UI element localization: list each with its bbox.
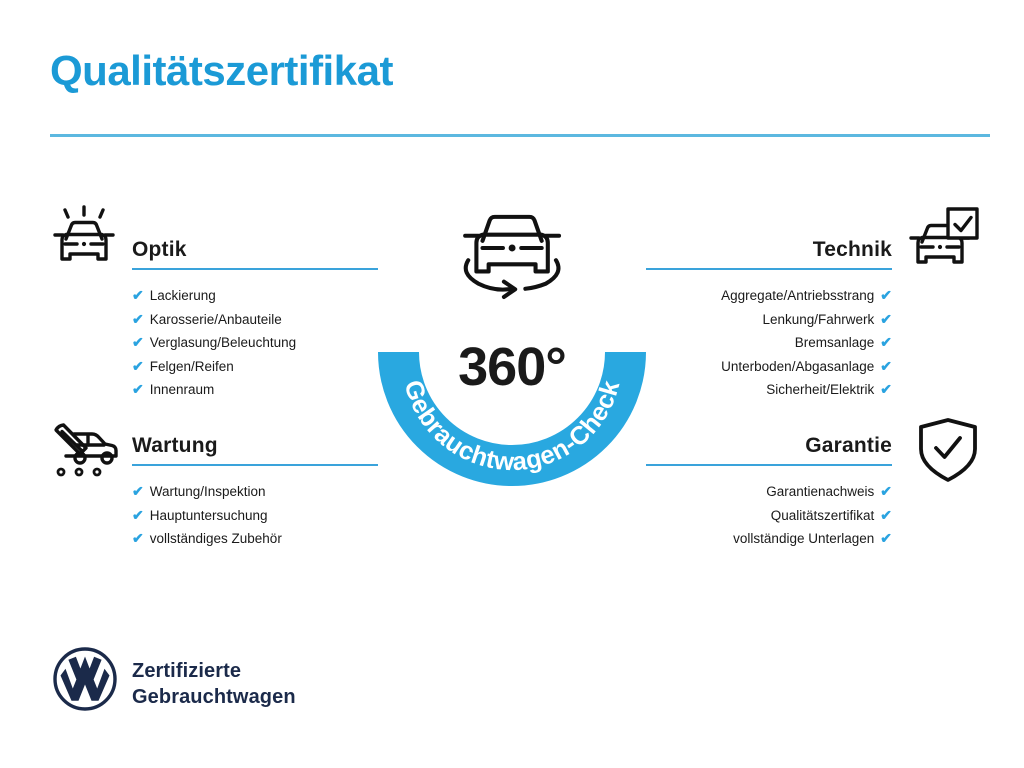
list-item-label: Garantienachweis bbox=[766, 484, 874, 499]
list-item: Unterboden/Abgasanlage✔ bbox=[646, 355, 892, 379]
list-item: ✔vollständiges Zubehör bbox=[132, 527, 378, 551]
header-divider bbox=[50, 134, 990, 137]
section-divider-wartung bbox=[132, 464, 378, 466]
section-technik: Technik Aggregate/Antriebsstrang✔ Lenkun… bbox=[646, 238, 892, 402]
check-icon: ✔ bbox=[132, 507, 144, 523]
vw-logo bbox=[52, 646, 118, 712]
car-rotate-360-icon bbox=[465, 217, 559, 297]
list-item: ✔Felgen/Reifen bbox=[132, 355, 378, 379]
list-item-label: Unterboden/Abgasanlage bbox=[721, 359, 874, 374]
badge-degrees-label: 360° bbox=[368, 336, 656, 398]
checklist-technik: Aggregate/Antriebsstrang✔ Lenkung/Fahrwe… bbox=[646, 284, 892, 402]
list-item: Bremsanlage✔ bbox=[646, 331, 892, 355]
list-item-label: Karosserie/Anbauteile bbox=[150, 312, 282, 327]
check-icon: ✔ bbox=[880, 287, 892, 303]
check-icon: ✔ bbox=[880, 530, 892, 546]
check-icon: ✔ bbox=[132, 311, 144, 327]
check-icon: ✔ bbox=[880, 358, 892, 374]
section-optik: Optik ✔Lackierung ✔Karosserie/Anbauteile… bbox=[132, 238, 378, 402]
car-front-shine-icon bbox=[46, 204, 122, 280]
check-icon: ✔ bbox=[132, 334, 144, 350]
checklist-garantie: Garantienachweis✔ Qualitätszertifikat✔ v… bbox=[646, 480, 892, 551]
section-heading-technik: Technik bbox=[646, 238, 892, 261]
car-front-checkbox-icon bbox=[906, 204, 982, 280]
list-item: ✔Karosserie/Anbauteile bbox=[132, 308, 378, 332]
section-garantie: Garantie Garantienachweis✔ Qualitätszert… bbox=[646, 434, 892, 551]
list-item: Garantienachweis✔ bbox=[646, 480, 892, 504]
check-icon: ✔ bbox=[880, 311, 892, 327]
list-item-label: Sicherheit/Elektrik bbox=[766, 382, 874, 397]
check-icon: ✔ bbox=[132, 483, 144, 499]
list-item: ✔Innenraum bbox=[132, 378, 378, 402]
list-item-label: Lackierung bbox=[150, 288, 216, 303]
section-heading-optik: Optik bbox=[132, 238, 378, 261]
section-divider-optik bbox=[132, 268, 378, 270]
list-item: ✔Verglasung/Beleuchtung bbox=[132, 331, 378, 355]
list-item: ✔Wartung/Inspektion bbox=[132, 480, 378, 504]
check-icon: ✔ bbox=[132, 530, 144, 546]
list-item: Sicherheit/Elektrik✔ bbox=[646, 378, 892, 402]
page-title: Qualitätszertifikat bbox=[50, 48, 393, 94]
list-item-label: Wartung/Inspektion bbox=[150, 484, 266, 499]
section-divider-garantie bbox=[646, 464, 892, 466]
list-item-label: Qualitätszertifikat bbox=[771, 508, 875, 523]
list-item: Lenkung/Fahrwerk✔ bbox=[646, 308, 892, 332]
list-item: Qualitätszertifikat✔ bbox=[646, 504, 892, 528]
check-icon: ✔ bbox=[132, 358, 144, 374]
list-item: ✔Lackierung bbox=[132, 284, 378, 308]
list-item-label: vollständige Unterlagen bbox=[733, 531, 874, 546]
checklist-wartung: ✔Wartung/Inspektion ✔Hauptuntersuchung ✔… bbox=[132, 480, 378, 551]
list-item-label: Verglasung/Beleuchtung bbox=[150, 335, 296, 350]
footer-brand-text: Zertifizierte Gebrauchtwagen bbox=[132, 658, 296, 710]
car-service-tool-icon bbox=[46, 412, 122, 488]
list-item: vollständige Unterlagen✔ bbox=[646, 527, 892, 551]
section-heading-wartung: Wartung bbox=[132, 434, 378, 457]
footer-line-2: Gebrauchtwagen bbox=[132, 684, 296, 710]
shield-check-icon bbox=[910, 412, 986, 488]
list-item: Aggregate/Antriebsstrang✔ bbox=[646, 284, 892, 308]
list-item: ✔Hauptuntersuchung bbox=[132, 504, 378, 528]
list-item-label: Aggregate/Antriebsstrang bbox=[721, 288, 874, 303]
check-icon: ✔ bbox=[132, 381, 144, 397]
section-divider-technik bbox=[646, 268, 892, 270]
section-heading-garantie: Garantie bbox=[646, 434, 892, 457]
list-item-label: vollständiges Zubehör bbox=[150, 531, 282, 546]
badge-360-gebrauchtwagen-check: Gebrauchtwagen-Check 360° bbox=[368, 196, 656, 488]
list-item-label: Lenkung/Fahrwerk bbox=[762, 312, 874, 327]
section-wartung: Wartung ✔Wartung/Inspektion ✔Hauptunters… bbox=[132, 434, 378, 551]
list-item-label: Bremsanlage bbox=[795, 335, 875, 350]
footer-line-1: Zertifizierte bbox=[132, 658, 296, 684]
list-item-label: Felgen/Reifen bbox=[150, 359, 234, 374]
checklist-optik: ✔Lackierung ✔Karosserie/Anbauteile ✔Verg… bbox=[132, 284, 378, 402]
check-icon: ✔ bbox=[880, 334, 892, 350]
check-icon: ✔ bbox=[880, 483, 892, 499]
check-icon: ✔ bbox=[132, 287, 144, 303]
list-item-label: Hauptuntersuchung bbox=[150, 508, 268, 523]
check-icon: ✔ bbox=[880, 381, 892, 397]
check-icon: ✔ bbox=[880, 507, 892, 523]
list-item-label: Innenraum bbox=[150, 382, 215, 397]
